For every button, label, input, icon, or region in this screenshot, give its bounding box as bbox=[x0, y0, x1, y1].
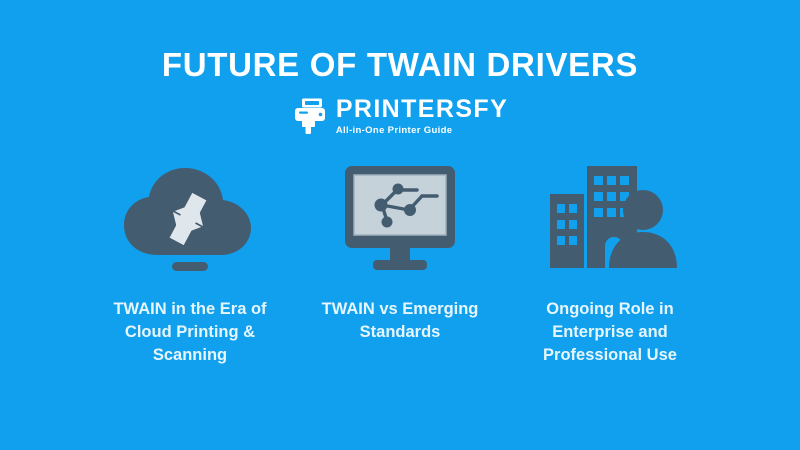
feature-column-monitor: TWAIN vs Emerging Standards bbox=[295, 162, 505, 345]
brand-logo: PRINTERSFY All-in-One Printer Guide bbox=[292, 97, 508, 136]
logo-tagline: All-in-One Printer Guide bbox=[336, 126, 453, 136]
logo-text-block: PRINTERSFY All-in-One Printer Guide bbox=[336, 97, 508, 136]
feature-caption: Ongoing Role in Enterprise and Professio… bbox=[515, 298, 705, 368]
feature-caption: TWAIN vs Emerging Standards bbox=[305, 298, 495, 345]
feature-columns: TWAIN in the Era of Cloud Printing & Sca… bbox=[0, 162, 800, 368]
icon-container bbox=[115, 162, 265, 280]
printer-icon bbox=[292, 97, 328, 135]
page-title: FUTURE OF TWAIN DRIVERS bbox=[162, 48, 638, 81]
feature-column-cloud: TWAIN in the Era of Cloud Printing & Sca… bbox=[85, 162, 295, 368]
infographic-banner: FUTURE OF TWAIN DRIVERS PRINTERSFY All-i… bbox=[0, 0, 800, 450]
feature-caption: TWAIN in the Era of Cloud Printing & Sca… bbox=[95, 298, 285, 368]
cloud-sync-icon bbox=[115, 158, 265, 283]
feature-column-enterprise: Ongoing Role in Enterprise and Professio… bbox=[505, 162, 715, 368]
monitor-network-icon bbox=[325, 158, 475, 283]
enterprise-buildings-person-icon bbox=[535, 158, 685, 283]
icon-container bbox=[325, 162, 475, 280]
logo-name: PRINTERSFY bbox=[336, 97, 508, 122]
icon-container bbox=[535, 162, 685, 280]
